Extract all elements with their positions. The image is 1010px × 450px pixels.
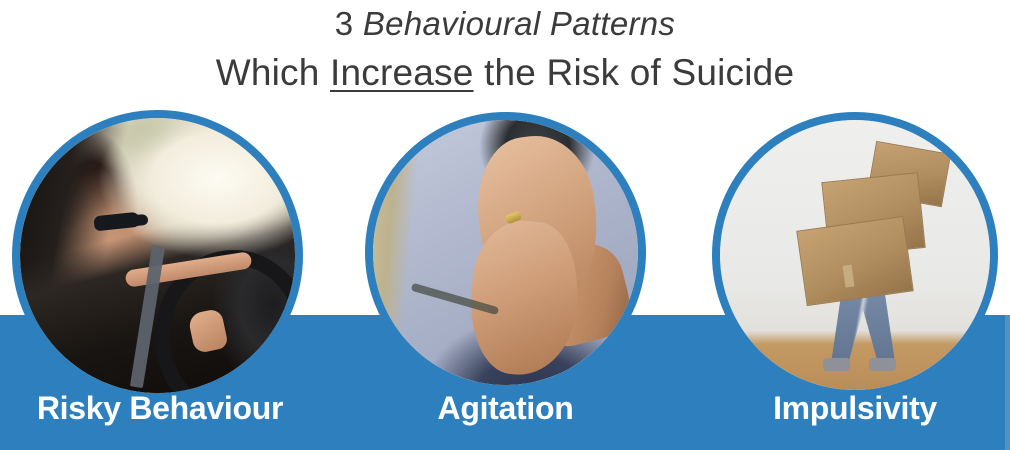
heading-block: 3 Behavioural Patterns Which Increase th… xyxy=(0,0,1010,95)
box-tape-strip xyxy=(843,265,855,288)
wringing-hands-photo xyxy=(373,120,638,385)
card-caption-agitation: Agitation xyxy=(365,389,646,427)
cardboard-box-bottom xyxy=(796,215,913,305)
woman-driving-photo xyxy=(20,118,295,393)
card-image-agitation xyxy=(365,112,646,393)
left-shoe-shape xyxy=(823,358,850,372)
card-caption-risky-behaviour: Risky Behaviour xyxy=(0,389,320,427)
blue-banner-right-edge xyxy=(1005,315,1010,450)
title-count: 3 xyxy=(335,5,363,42)
title-line-2: Which Increase the Risk of Suicide xyxy=(0,44,1010,95)
title-phrase: Behavioural Patterns xyxy=(363,5,675,42)
title-line-1: 3 Behavioural Patterns xyxy=(0,0,1010,44)
card-image-risky-behaviour xyxy=(12,110,303,401)
infographic-canvas: 3 Behavioural Patterns Which Increase th… xyxy=(0,0,1010,450)
circle-clip-2 xyxy=(373,120,638,385)
stacked-boxes-photo xyxy=(720,120,990,390)
circle-clip-3 xyxy=(720,120,990,390)
circle-clip-1 xyxy=(20,118,295,393)
subtitle-prefix: Which xyxy=(216,52,330,93)
subtitle-suffix: the Risk of Suicide xyxy=(474,52,795,93)
sunglasses-shape xyxy=(94,212,141,232)
subtitle-emphasis: Increase xyxy=(330,52,474,93)
card-caption-impulsivity: Impulsivity xyxy=(712,389,998,427)
card-image-impulsivity xyxy=(712,112,998,398)
right-shoe-shape xyxy=(869,358,896,372)
